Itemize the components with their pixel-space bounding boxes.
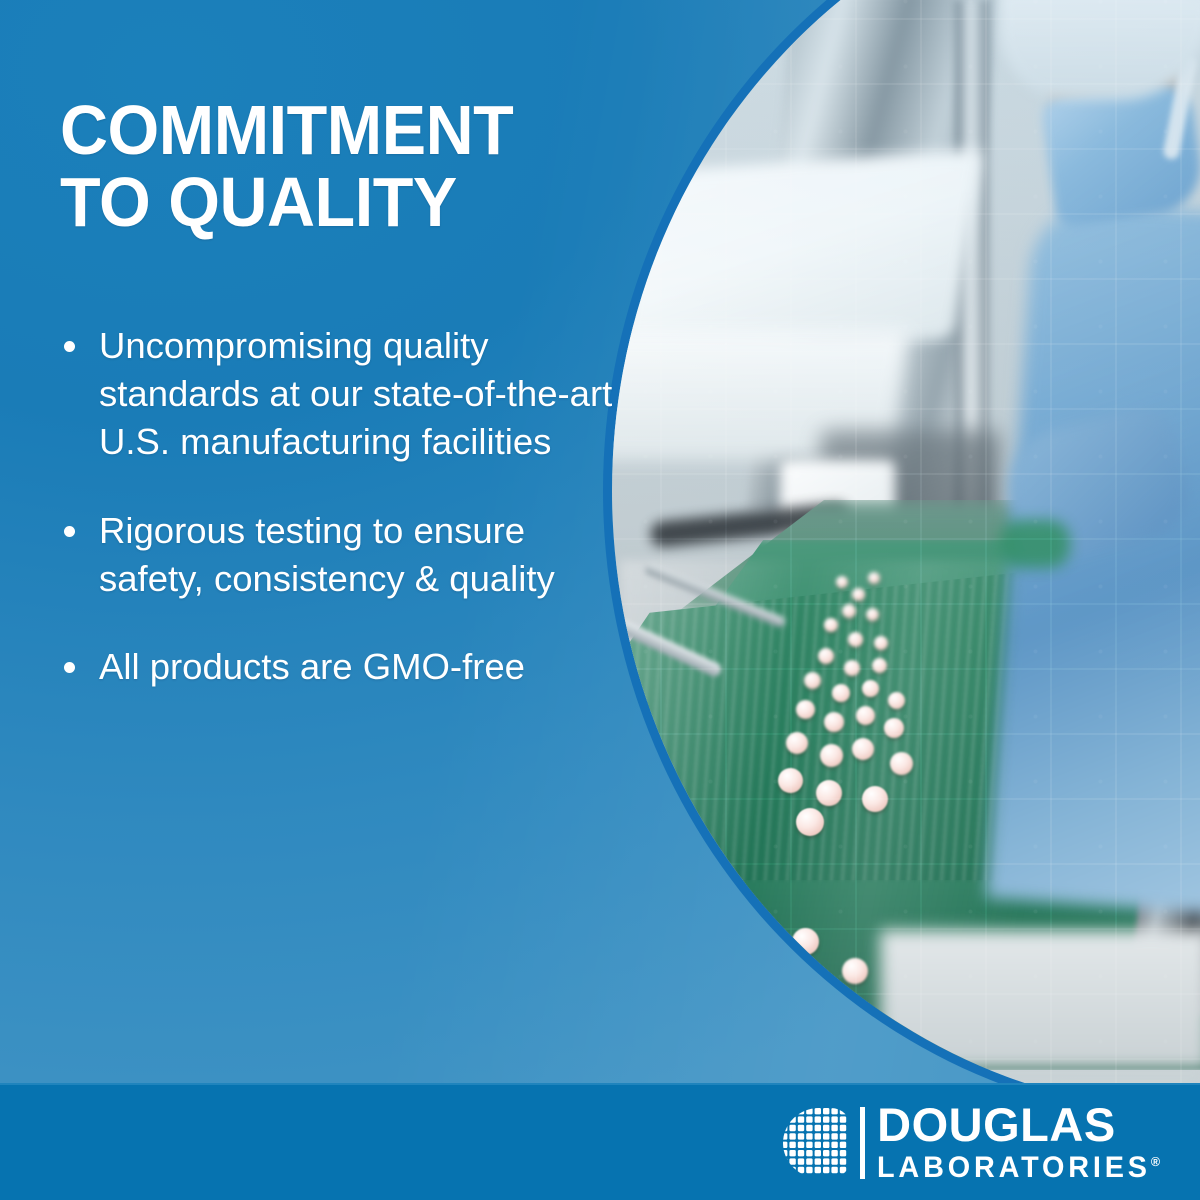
page-title: COMMITMENT TO QUALITY (60, 94, 592, 238)
registered-trademark-icon: ® (1151, 1154, 1160, 1169)
bullet-dot-icon (64, 341, 75, 352)
logo-name-secondary: LABORATORIES® (877, 1153, 1160, 1183)
brand-logo[interactable]: DOUGLAS LABORATORIES® (779, 1099, 1172, 1187)
headline-line-2: TO QUALITY (60, 166, 592, 238)
benefits-list: Uncompromising quality standards at our … (60, 322, 620, 691)
logo-wordmark: DOUGLAS LABORATORIES® (877, 1103, 1172, 1182)
logo-name-secondary-text: LABORATORIES (877, 1151, 1151, 1184)
footer-bar: DOUGLAS LABORATORIES® (0, 1083, 1200, 1200)
manufacturing-photo (612, 0, 1200, 1113)
logo-divider (860, 1107, 865, 1179)
photo-circle-frame (612, 0, 1200, 1113)
list-item-text: All products are GMO-free (99, 646, 525, 687)
douglas-grid-circle-mark-icon (779, 1106, 851, 1180)
list-item-text: Uncompromising quality standards at our … (99, 325, 612, 462)
promo-card: COMMITMENT TO QUALITY Uncompromising qua… (0, 0, 1200, 1200)
list-item: Uncompromising quality standards at our … (60, 322, 620, 467)
photo-vignette (612, 0, 1200, 1113)
logo-name-primary: DOUGLAS (877, 1103, 1172, 1146)
headline-line-1: COMMITMENT (60, 94, 592, 166)
list-item: All products are GMO-free (60, 643, 620, 691)
bullet-dot-icon (64, 526, 75, 537)
list-item-text: Rigorous testing to ensure safety, consi… (99, 510, 555, 599)
bullet-dot-icon (64, 662, 75, 673)
list-item: Rigorous testing to ensure safety, consi… (60, 507, 620, 603)
